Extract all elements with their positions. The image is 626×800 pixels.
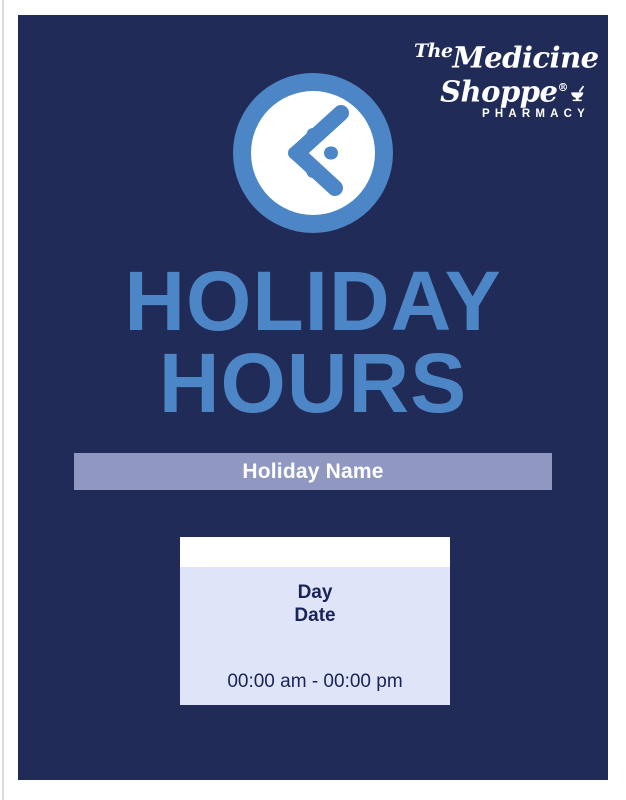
title-line-hours: HOURS <box>18 342 608 424</box>
holiday-time-range: 00:00 am - 00:00 pm <box>180 627 450 693</box>
logo-pharmacy-text: PHARMACY <box>414 106 590 122</box>
logo-the-text: The <box>414 40 453 62</box>
logo-line-medicine: TheMedicine <box>414 37 590 73</box>
title-line-holiday: HOLIDAY <box>18 260 608 342</box>
logo-shoppe-text: Shoppe <box>440 74 557 108</box>
mortar-and-pestle-icon <box>569 78 588 97</box>
holiday-name-label: Holiday Name <box>242 460 383 484</box>
holiday-details-body: Day Date 00:00 am - 00:00 pm <box>180 567 450 705</box>
logo-line-shoppe: Shoppe® <box>414 73 590 107</box>
page-title: HOLIDAY HOURS <box>18 260 608 424</box>
page-root: TheMedicine Shoppe® PHARMACY <box>0 0 626 800</box>
holiday-name-bar[interactable]: Holiday Name <box>74 453 552 490</box>
registered-trademark-icon: ® <box>558 81 569 94</box>
holiday-day-label: Day <box>180 567 450 604</box>
clock-icon <box>233 73 393 233</box>
logo-medicine-text: Medicine <box>453 41 599 75</box>
medicine-shoppe-logo: TheMedicine Shoppe® PHARMACY <box>414 37 590 109</box>
holiday-date-label: Date <box>180 604 450 627</box>
holiday-hours-poster: TheMedicine Shoppe® PHARMACY <box>18 15 608 780</box>
page-edge-shadow <box>2 0 4 800</box>
holiday-details-card: Day Date 00:00 am - 00:00 pm <box>180 537 450 705</box>
